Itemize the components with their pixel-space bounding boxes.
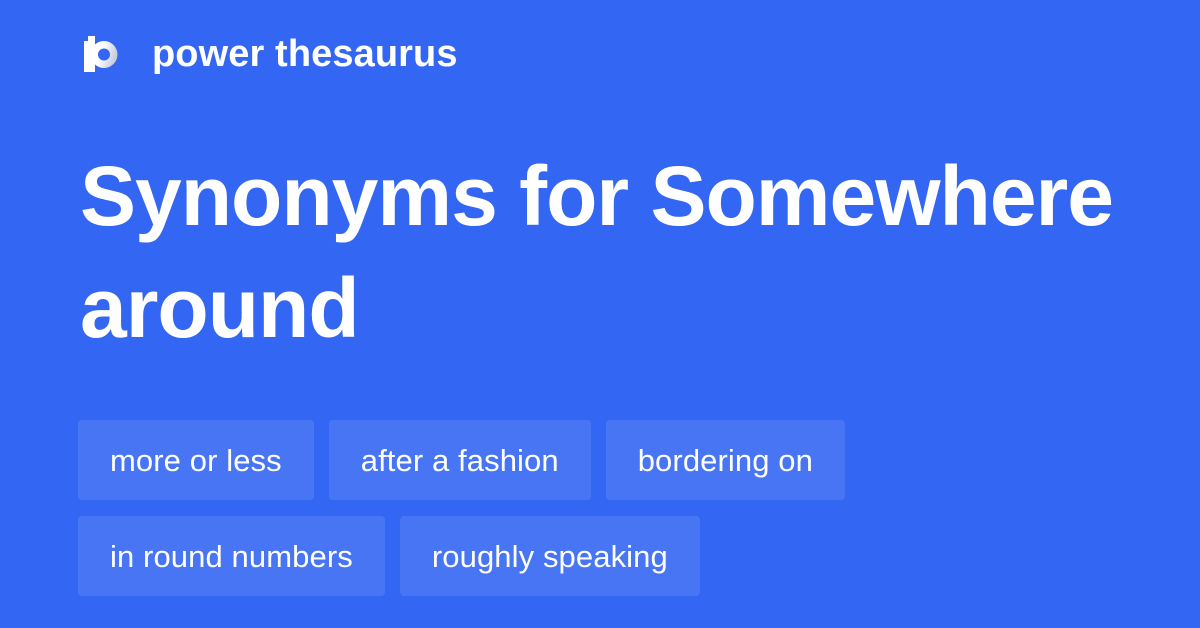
synonym-chip[interactable]: in round numbers xyxy=(78,516,385,596)
synonym-chip[interactable]: after a fashion xyxy=(329,420,591,500)
power-thesaurus-logo-icon xyxy=(80,30,128,78)
synonym-chip[interactable]: bordering on xyxy=(606,420,845,500)
synonym-chip-list: more or less after a fashion bordering o… xyxy=(78,420,1128,596)
page-title: Synonyms for Somewhere around xyxy=(80,140,1120,364)
brand-header[interactable]: power thesaurus xyxy=(80,28,458,80)
brand-name: power thesaurus xyxy=(152,35,458,73)
synonym-chip[interactable]: roughly speaking xyxy=(400,516,700,596)
share-card: power thesaurus Synonyms for Somewhere a… xyxy=(0,0,1200,628)
synonym-chip[interactable]: more or less xyxy=(78,420,314,500)
